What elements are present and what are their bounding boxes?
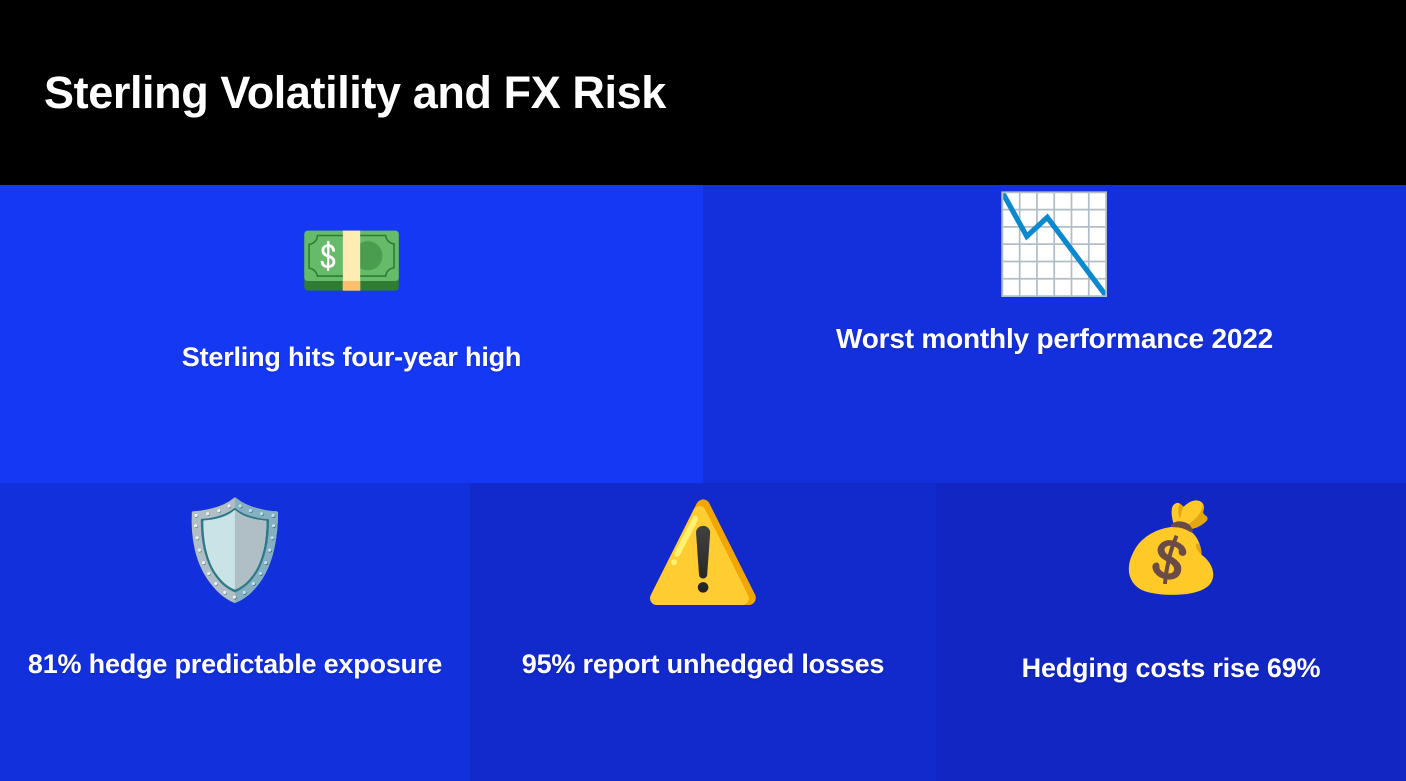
warning-triangle-icon: ⚠️ xyxy=(643,505,763,601)
card-sterling-four-year-high[interactable]: 💵 Sterling hits four-year high xyxy=(0,185,703,483)
card-row-top: 💵 Sterling hits four-year high 📉 Worst m… xyxy=(0,185,1406,483)
slide-root: Sterling Volatility and FX Risk 💵 Sterli… xyxy=(0,0,1406,781)
page-title: Sterling Volatility and FX Risk xyxy=(44,69,666,116)
card-row-bottom: 🛡️ 81% hedge predictable exposure ⚠️ 95%… xyxy=(0,483,1406,781)
slide-header: Sterling Volatility and FX Risk xyxy=(0,0,1406,185)
card-caption: 95% report unhedged losses xyxy=(503,649,903,680)
card-caption: Worst monthly performance 2022 xyxy=(835,323,1275,355)
banknote-with-dollar-sign-icon: 💵 xyxy=(298,218,405,304)
chart-decreasing-icon: 📉 xyxy=(995,197,1115,293)
card-caption: Sterling hits four-year high xyxy=(137,342,567,373)
card-hedging-costs-rise[interactable]: 💰 Hedging costs rise 69% xyxy=(936,483,1406,781)
card-caption: 81% hedge predictable exposure xyxy=(25,649,445,680)
money-bag-icon: 💰 xyxy=(1117,505,1224,591)
shield-icon: 🛡️ xyxy=(175,503,295,599)
card-report-unhedged-losses[interactable]: ⚠️ 95% report unhedged losses xyxy=(470,483,936,781)
card-worst-monthly-performance[interactable]: 📉 Worst monthly performance 2022 xyxy=(703,185,1406,483)
card-hedge-predictable-exposure[interactable]: 🛡️ 81% hedge predictable exposure xyxy=(0,483,470,781)
card-caption: Hedging costs rise 69% xyxy=(961,653,1381,684)
card-grid: 💵 Sterling hits four-year high 📉 Worst m… xyxy=(0,185,1406,781)
